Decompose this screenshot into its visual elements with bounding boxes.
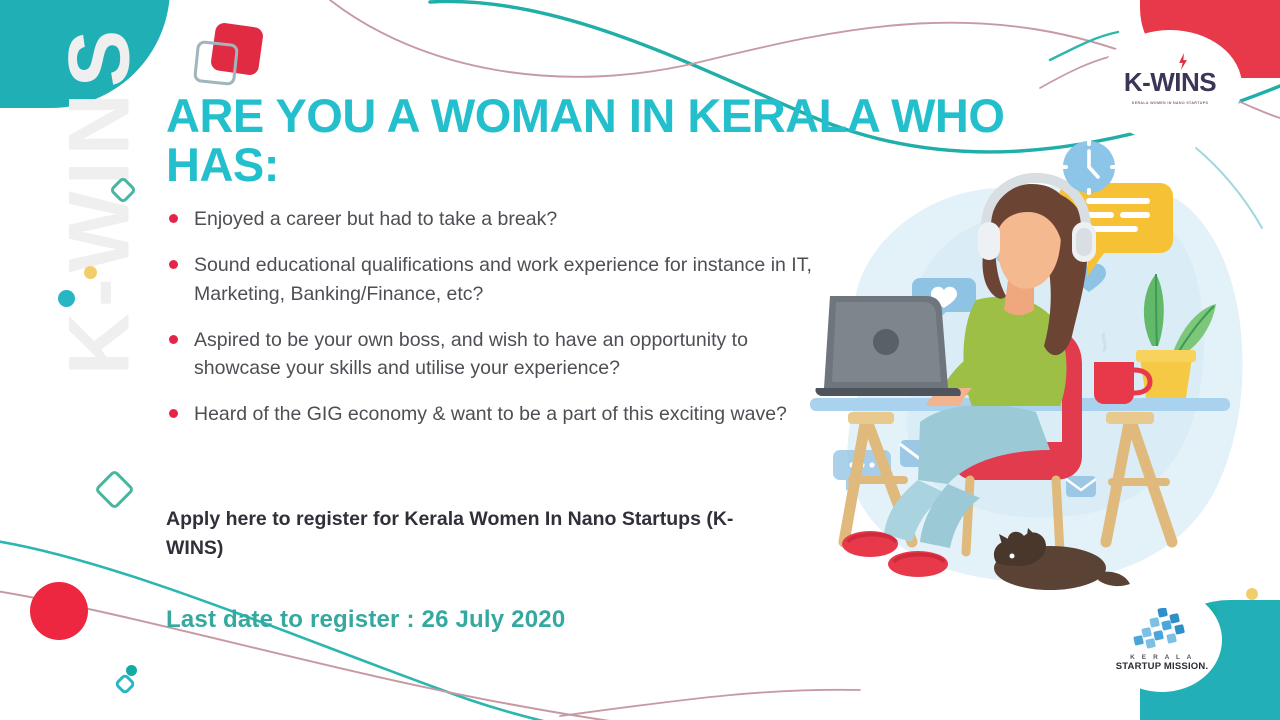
decorative-dot-red-large <box>30 582 88 640</box>
decorative-dot-teal-small <box>126 665 137 676</box>
kwins-logo: K-WINS KERALA WOMEN IN NANO STARTUPS <box>1098 30 1242 142</box>
list-item: Sound educational qualifications and wor… <box>166 251 816 309</box>
kwins-tagline: KERALA WOMEN IN NANO STARTUPS <box>1132 101 1208 105</box>
decorative-diamond-2 <box>94 469 135 510</box>
decorative-dot-teal-mid <box>58 290 75 307</box>
kerala-startup-mission-logo: K E R A L A STARTUP MISSION. <box>1102 588 1222 692</box>
woman-at-desk-illustration <box>800 150 1270 620</box>
list-item-text: Aspired to be your own boss, and wish to… <box>194 329 748 380</box>
ksum-kerala-text: K E R A L A <box>1130 654 1194 661</box>
bullet-marker-icon <box>169 260 178 269</box>
bullet-marker-icon <box>169 335 178 344</box>
list-item-text: Sound educational qualifications and wor… <box>194 254 812 305</box>
list-item: Enjoyed a career but had to take a break… <box>166 205 816 234</box>
clock-icon <box>1059 137 1119 197</box>
bullet-marker-icon <box>169 409 178 418</box>
list-item: Aspired to be your own boss, and wish to… <box>166 326 816 384</box>
decorative-dot-yellow <box>84 266 97 279</box>
page-title: ARE YOU A WOMAN IN KERALA WHO HAS: <box>166 92 1006 190</box>
kwins-wordmark: K-WINS <box>1124 67 1216 98</box>
list-item-text: Enjoyed a career but had to take a break… <box>194 208 557 230</box>
requirements-list: Enjoyed a career but had to take a break… <box>166 205 816 446</box>
kwins-wordmark-text: K-WINS <box>1124 67 1216 97</box>
list-item: Heard of the GIG economy & want to be a … <box>166 400 816 429</box>
bullet-marker-icon <box>169 214 178 223</box>
list-item-text: Heard of the GIG economy & want to be a … <box>194 403 787 425</box>
call-to-action-text: Apply here to register for Kerala Women … <box>166 505 786 564</box>
decorative-diamond-3 <box>114 673 137 696</box>
decorative-square-outline <box>193 40 239 86</box>
poster-canvas: K-WINS <box>0 0 1280 720</box>
deadline-text: Last date to register : 26 July 2020 <box>166 606 565 634</box>
ksum-mission-text: STARTUP MISSION. <box>1116 661 1209 672</box>
watermark-kwins: K-WINS <box>51 0 150 410</box>
ksum-mosaic-icon <box>1130 608 1194 650</box>
